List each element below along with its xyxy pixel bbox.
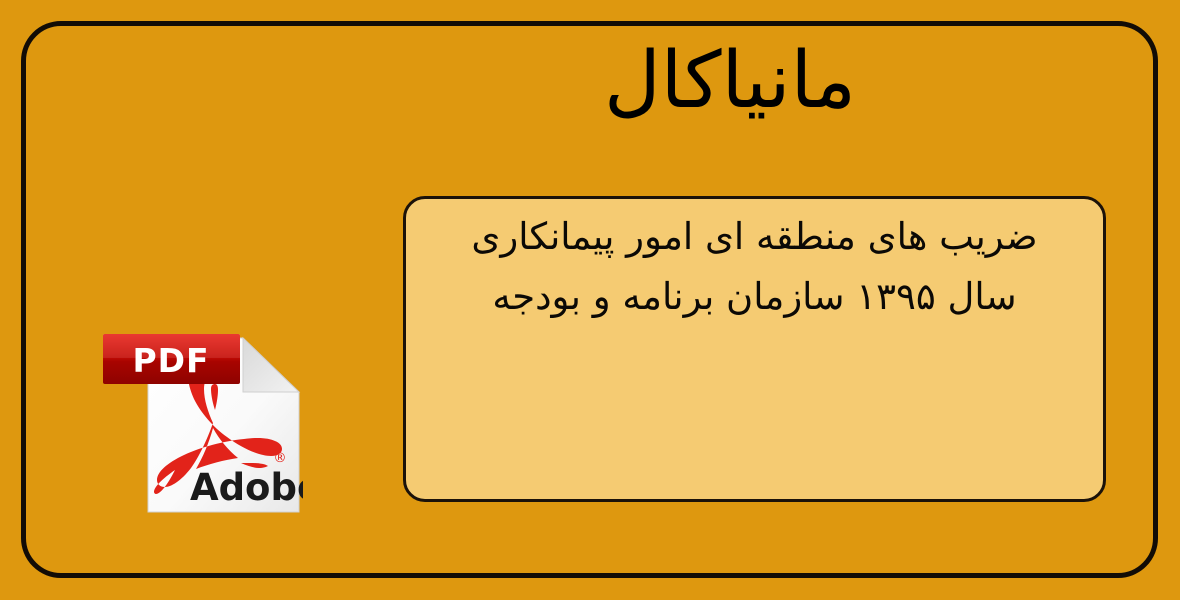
- pdf-badge: PDF: [103, 334, 240, 384]
- registered-trademark-icon: ®: [274, 451, 287, 466]
- description-line-2: سال ۱۳۹۵ سازمان برنامه و بودجه: [420, 267, 1089, 327]
- page-title: مانیاکال: [330, 12, 1130, 152]
- pdf-badge-label: PDF: [132, 341, 209, 380]
- poster-canvas: مانیاکال ضریب های منطقه ای امور پیمانکار…: [0, 0, 1180, 600]
- description-line-1: ضریب های منطقه ای امور پیمانکاری: [420, 207, 1089, 267]
- adobe-wordmark: Adobe: [190, 466, 303, 509]
- pdf-file-icon[interactable]: ® Adobe PDF: [103, 330, 303, 516]
- description-text: ضریب های منطقه ای امور پیمانکاری سال ۱۳۹…: [420, 207, 1089, 327]
- description-panel: ضریب های منطقه ای امور پیمانکاری سال ۱۳۹…: [403, 196, 1106, 502]
